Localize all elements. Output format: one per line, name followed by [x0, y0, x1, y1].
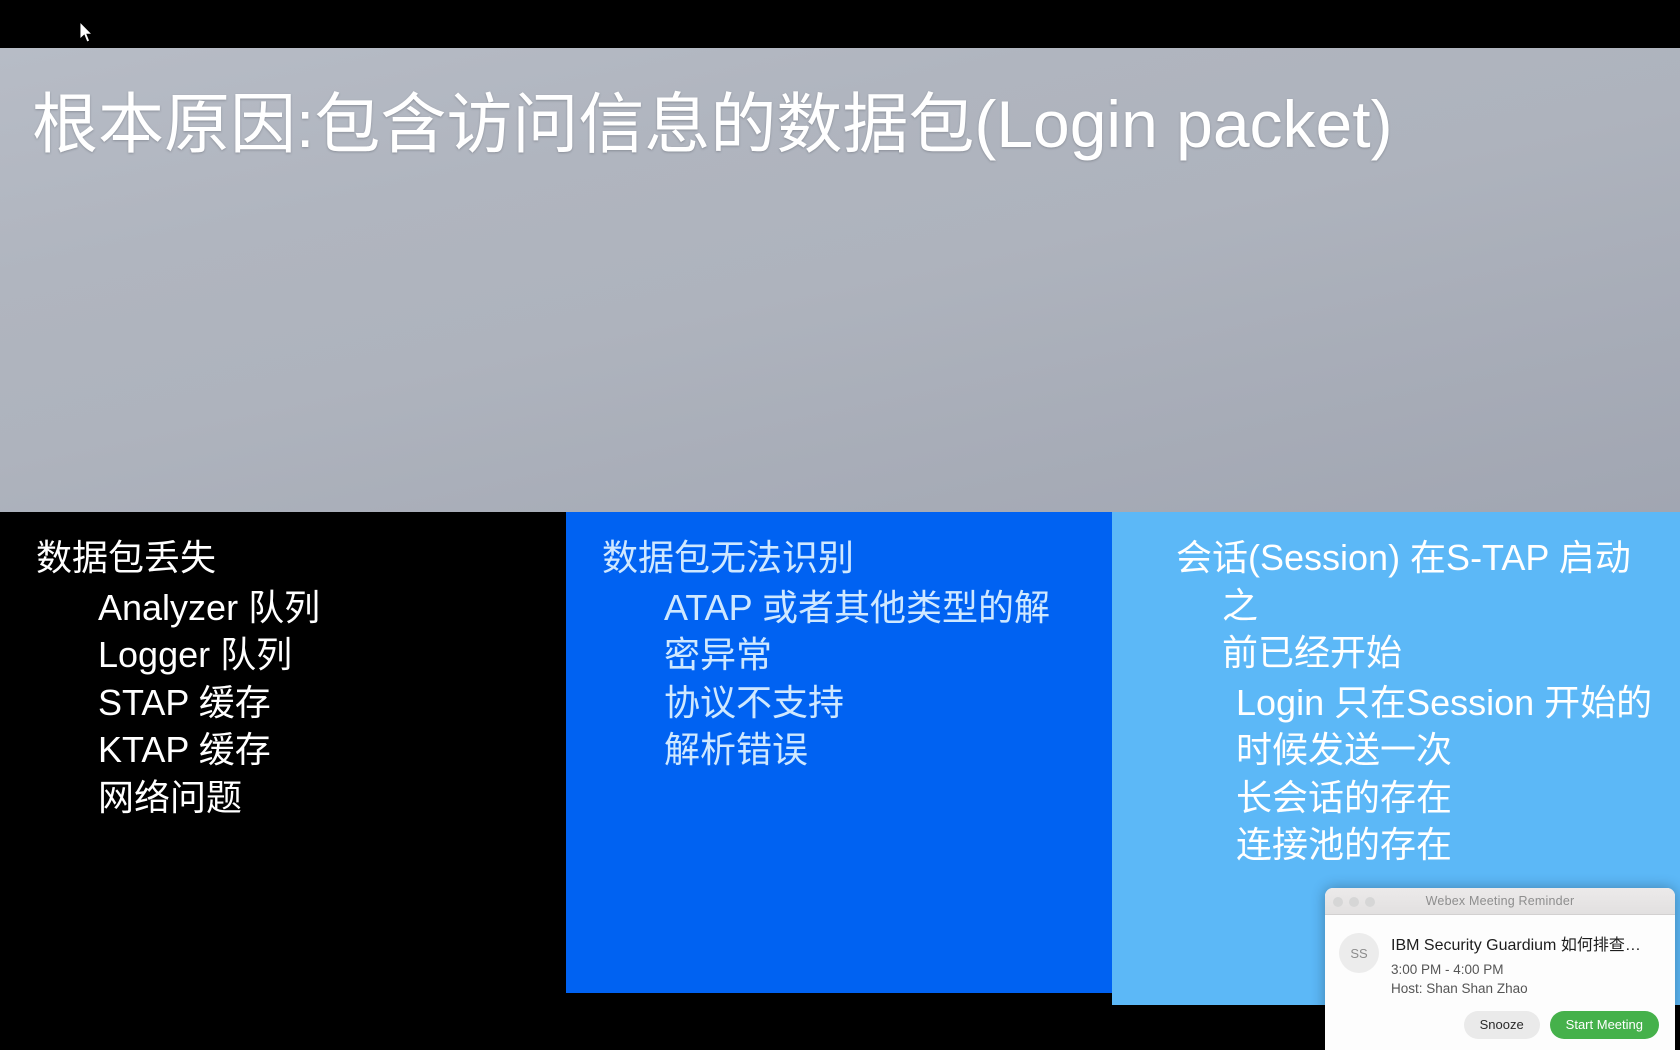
column-item: Logger 队列 — [36, 631, 548, 679]
window-controls-icon[interactable] — [1333, 897, 1375, 907]
start-meeting-button[interactable]: Start Meeting — [1550, 1011, 1659, 1039]
column-item: 连接池的存在 — [1130, 821, 1662, 869]
column-item: 解析错误 — [602, 726, 1090, 774]
avatar: SS — [1339, 933, 1379, 973]
slide-title: 根本原因:包含访问信息的数据包(Login packet) — [32, 88, 1652, 162]
column-heading: 数据包丢失 — [36, 534, 548, 582]
meeting-time-range: 3:00 PM - 4:00 PM — [1391, 960, 1661, 979]
notification-actions: Snooze Start Meeting — [1325, 998, 1675, 1039]
column-item: KTAP 缓存 — [36, 726, 548, 774]
slide-column-packet-loss: 数据包丢失 Analyzer 队列 Logger 队列 STAP 缓存 KTAP… — [0, 512, 566, 1050]
meeting-host: Host: Shan Shan Zhao — [1391, 979, 1661, 998]
slide-column-packet-unrecognized: 数据包无法识别 ATAP 或者其他类型的解 密异常 协议不支持 解析错误 — [566, 512, 1112, 993]
meeting-title: IBM Security Guardium 如何排查… — [1391, 931, 1661, 955]
slide-header: 根本原因:包含访问信息的数据包(Login packet) — [0, 48, 1680, 512]
webex-meeting-reminder-popup[interactable]: Webex Meeting Reminder SS IBM Security G… — [1325, 888, 1675, 1050]
column-item: 长会话的存在 — [1130, 774, 1662, 822]
window-zoom-icon[interactable] — [1365, 897, 1375, 907]
notification-body: SS IBM Security Guardium 如何排查… 3:00 PM -… — [1325, 915, 1675, 998]
window-minimize-icon[interactable] — [1349, 897, 1359, 907]
column-heading: 数据包无法识别 — [602, 534, 1090, 582]
top-black-strip — [0, 0, 1680, 48]
window-close-icon[interactable] — [1333, 897, 1343, 907]
column-item: Analyzer 队列 — [36, 584, 548, 632]
snooze-button[interactable]: Snooze — [1464, 1011, 1540, 1039]
column-heading: 会话(Session) 在S-TAP 启动之 前已经开始 — [1176, 534, 1662, 677]
screen: 根本原因:包含访问信息的数据包(Login packet) 数据包丢失 Anal… — [0, 0, 1680, 1050]
column-item: STAP 缓存 — [36, 679, 548, 727]
notification-titlebar: Webex Meeting Reminder — [1325, 888, 1675, 915]
column-item: Login 只在Session 开始的 时候发送一次 — [1130, 679, 1662, 774]
notification-window-title: Webex Meeting Reminder — [1426, 894, 1575, 908]
notification-details: IBM Security Guardium 如何排查… 3:00 PM - 4:… — [1391, 931, 1661, 998]
column-item: ATAP 或者其他类型的解 密异常 — [602, 584, 1090, 679]
column-item: 网络问题 — [36, 774, 548, 822]
column-item: 协议不支持 — [602, 679, 1090, 727]
